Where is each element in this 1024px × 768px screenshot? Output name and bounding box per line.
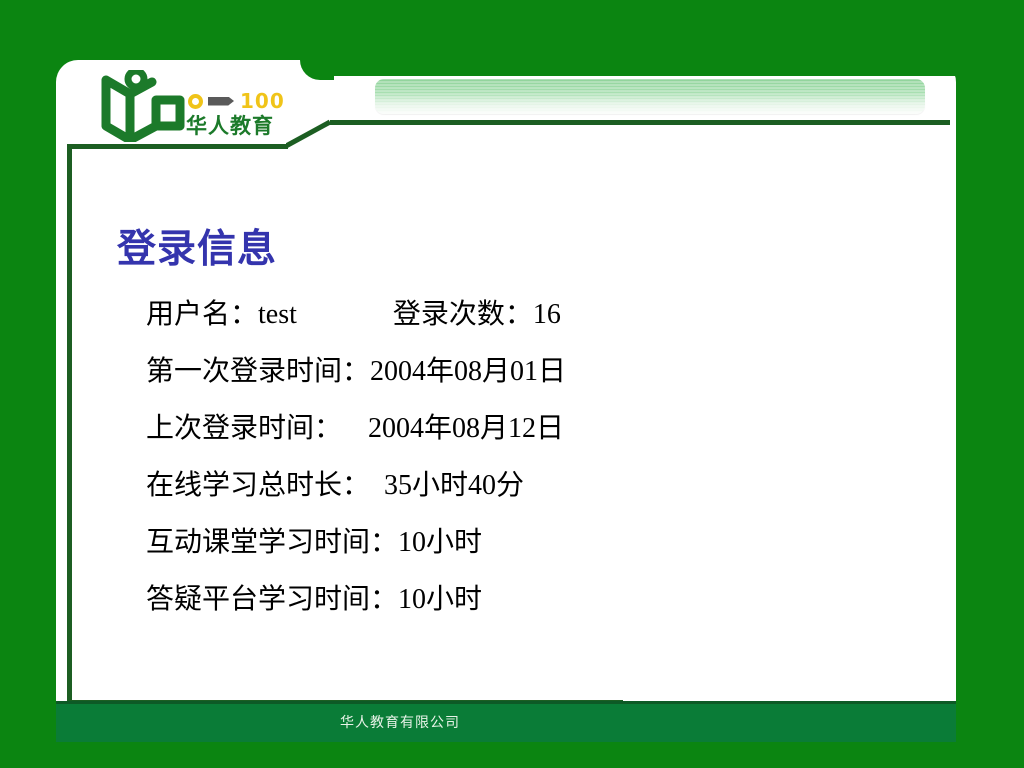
header-green-band <box>320 60 1024 76</box>
logo-circle-icon <box>188 94 203 109</box>
decorative-banner-bar <box>375 79 925 114</box>
login-count-label: 登录次数： <box>393 299 533 330</box>
total-study-time-value: 35小时40分 <box>384 470 524 501</box>
list-item-username: 用户名：test登录次数：16 <box>146 295 846 352</box>
page-title: 登录信息 <box>117 218 277 274</box>
qa-platform-time-label: 答疑平台学习时间： <box>146 584 398 615</box>
interactive-class-time-value: 10小时 <box>398 527 482 558</box>
header-rule-left <box>67 144 288 149</box>
right-green-margin <box>956 0 1024 768</box>
first-login-label: 第一次登录时间： <box>146 356 370 387</box>
last-login-label: 上次登录时间： <box>146 413 342 444</box>
login-info-list: 用户名：test登录次数：16 第一次登录时间：2004年08月01日 上次登录… <box>146 295 846 637</box>
logo-accent-group: 100 <box>188 90 285 112</box>
username-label: 用户名： <box>146 299 258 330</box>
last-login-value: 2004年08月12日 <box>368 413 564 444</box>
logo: 100 华人教育 <box>100 70 300 142</box>
logo-arrow-icon <box>208 97 234 106</box>
slide-root: 100 华人教育 登录信息 用户名：test登录次数：16 第一次登录时间：20… <box>0 0 1024 768</box>
footer-company-text: 华人教育有限公司 <box>340 712 460 732</box>
logo-number: 100 <box>240 91 285 111</box>
header-rule-right <box>330 120 950 125</box>
list-item-first-login: 第一次登录时间：2004年08月01日 <box>146 352 846 409</box>
frame-rule-vertical <box>67 144 72 700</box>
book-graduate-icon <box>100 70 186 142</box>
list-item-interactive-class-time: 互动课堂学习时间：10小时 <box>146 523 846 580</box>
qa-platform-time-value: 10小时 <box>398 584 482 615</box>
list-item-last-login: 上次登录时间：2004年08月12日 <box>146 409 846 466</box>
total-study-time-label: 在线学习总时长： <box>146 470 370 501</box>
username-value: test <box>258 299 297 330</box>
footer-band <box>56 704 956 742</box>
list-item-total-study-time: 在线学习总时长：35小时40分 <box>146 466 846 523</box>
login-count-value: 16 <box>533 299 561 330</box>
header-rule-diagonal <box>286 118 334 150</box>
logo-company-name: 华人教育 <box>186 110 274 140</box>
interactive-class-time-label: 互动课堂学习时间： <box>146 527 398 558</box>
list-item-qa-platform-time: 答疑平台学习时间：10小时 <box>146 580 846 637</box>
first-login-value: 2004年08月01日 <box>370 356 566 387</box>
